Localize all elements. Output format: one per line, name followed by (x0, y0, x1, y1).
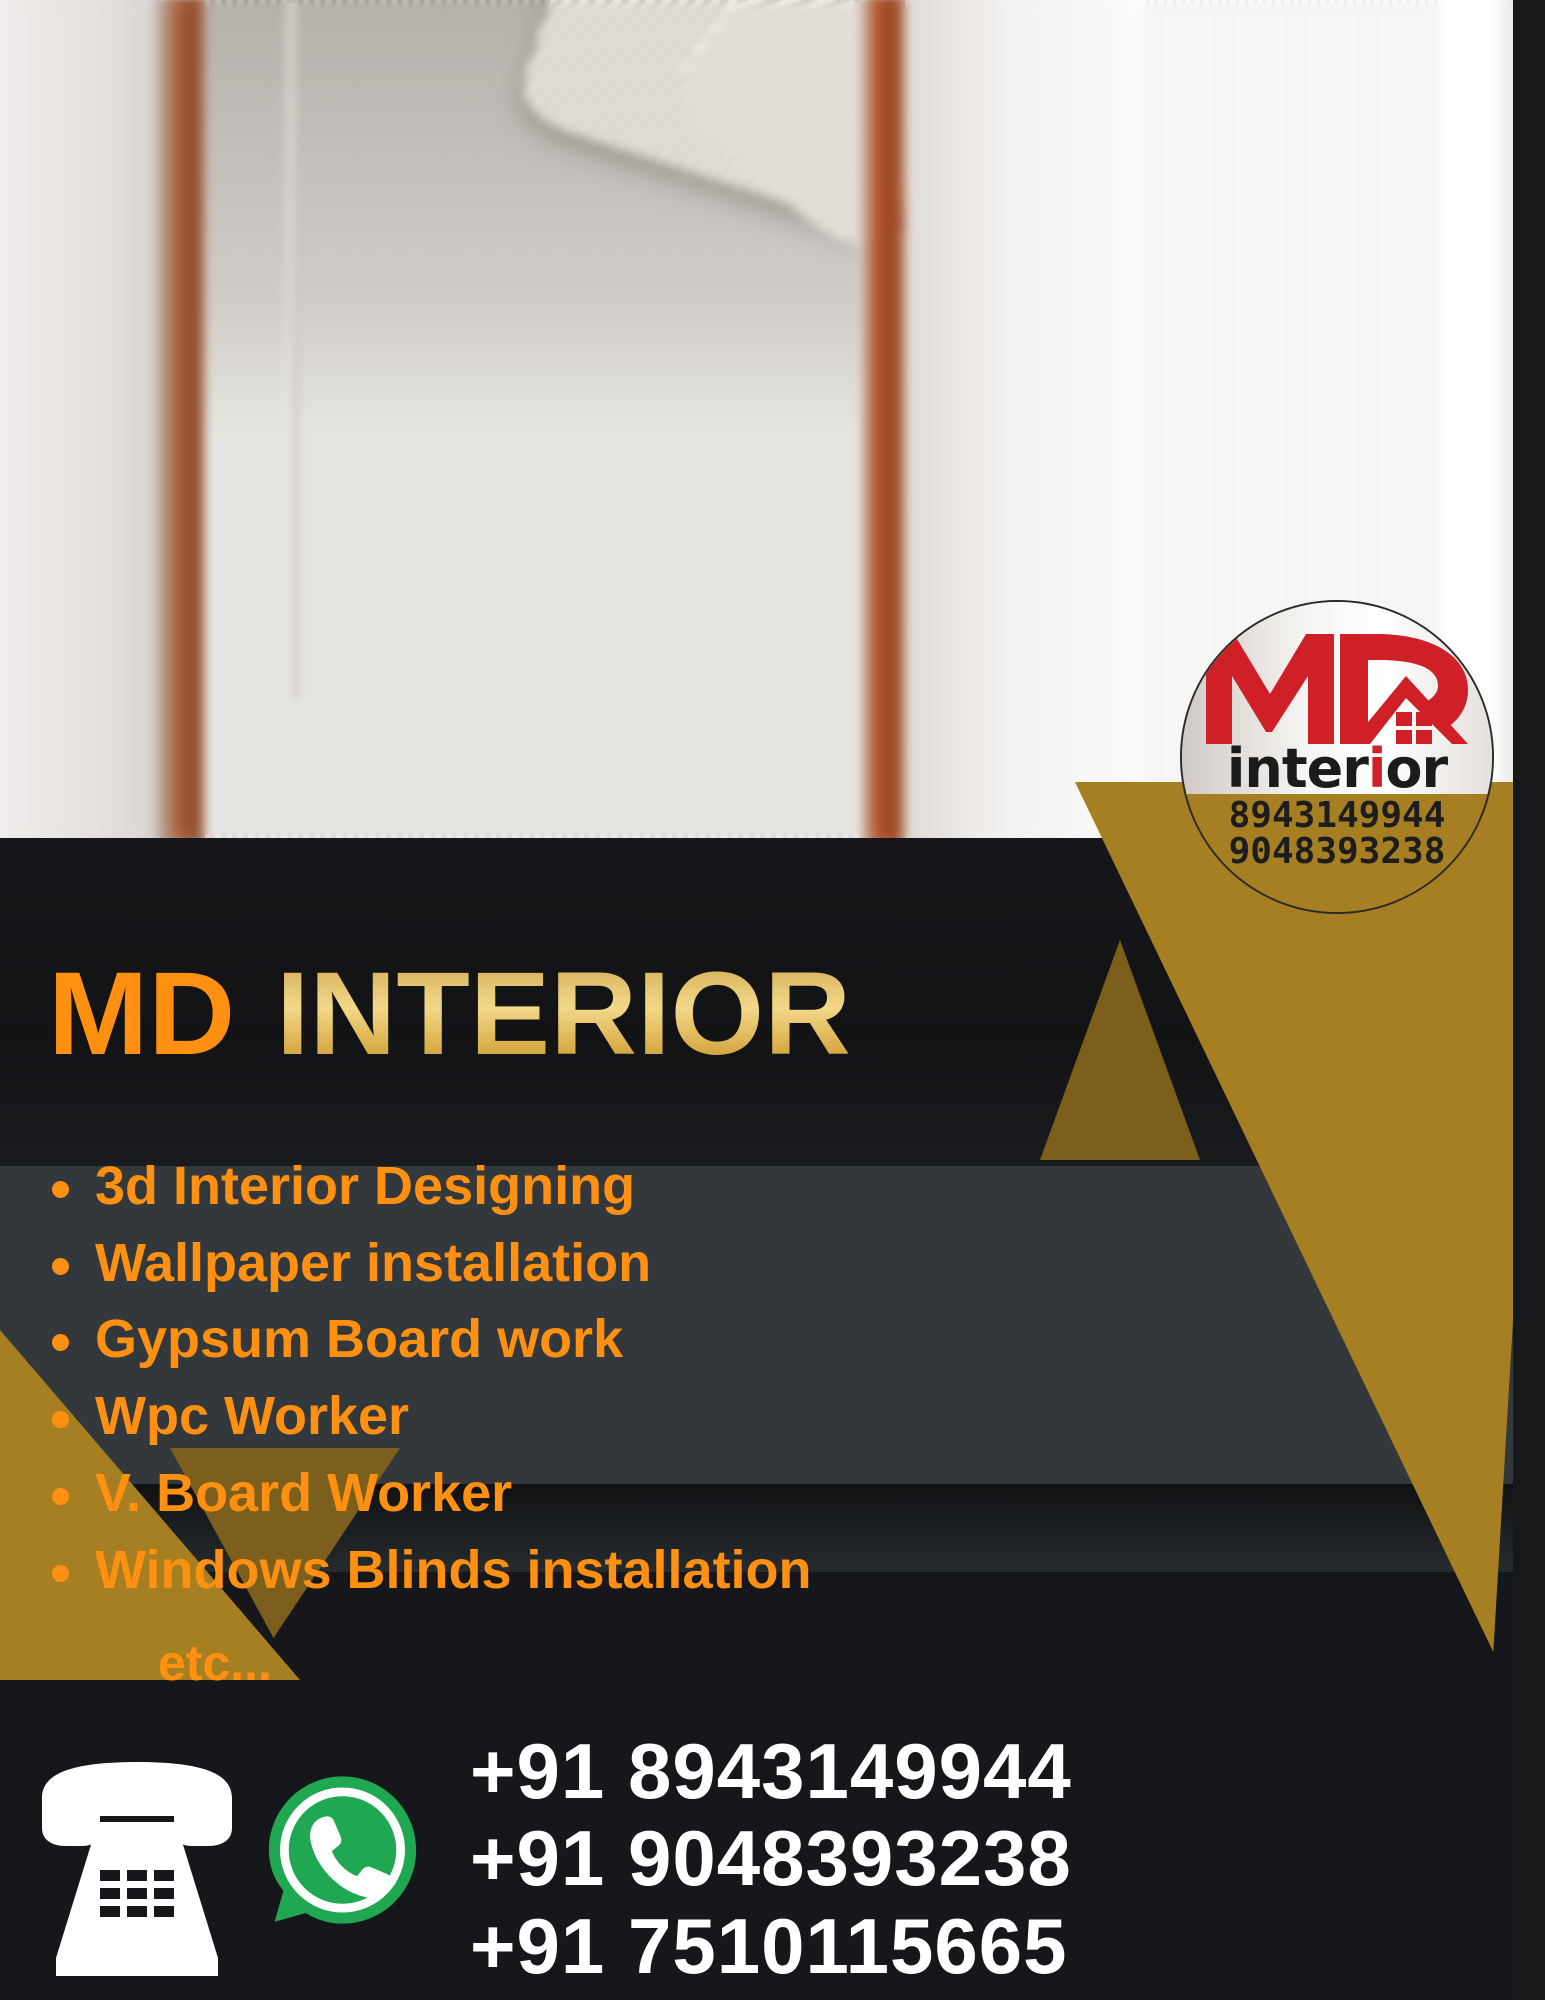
logo-wordmark: interior (1182, 742, 1492, 796)
list-item: V. Board Worker (40, 1462, 940, 1526)
list-item: Windows Blinds installation (40, 1539, 940, 1603)
whatsapp-icon (265, 1770, 420, 1930)
page-border-right (1513, 0, 1545, 2000)
md-house-monogram-icon (1200, 628, 1474, 748)
logo-wordmark-part2: or (1385, 737, 1447, 800)
contact-number: +91 8943149944 (470, 1728, 1072, 1815)
brand-logo: interior 8943149944 9048393238 (1180, 600, 1494, 914)
telephone-icon (30, 1760, 245, 1980)
services-etc-label: etc... (158, 1638, 272, 1688)
logo-wordmark-part1: inter (1227, 737, 1368, 800)
list-item: Wpc Worker (40, 1385, 940, 1449)
contact-number: +91 7510115665 (470, 1903, 1072, 1990)
list-item: Gypsum Board work (40, 1308, 940, 1372)
contact-numbers: +91 8943149944 +91 9048393238 +91 751011… (470, 1728, 1072, 1990)
logo-phone-1: 8943149944 (1182, 798, 1492, 835)
title-interior: INTERIOR (276, 948, 851, 1080)
services-list: 3d Interior Designing Wallpaper installa… (40, 1155, 940, 1615)
logo-phone-2: 9048393238 (1182, 834, 1492, 871)
poster-title: MDINTERIOR (48, 955, 851, 1073)
contact-number: +91 9048393238 (470, 1815, 1072, 1902)
title-md: MD (48, 948, 235, 1080)
list-item: Wallpaper installation (40, 1232, 940, 1296)
logo-wordmark-accent-letter: i (1368, 737, 1386, 800)
poster-canvas: interior 8943149944 9048393238 MDINTERIO… (0, 0, 1545, 2000)
list-item: 3d Interior Designing (40, 1155, 940, 1219)
